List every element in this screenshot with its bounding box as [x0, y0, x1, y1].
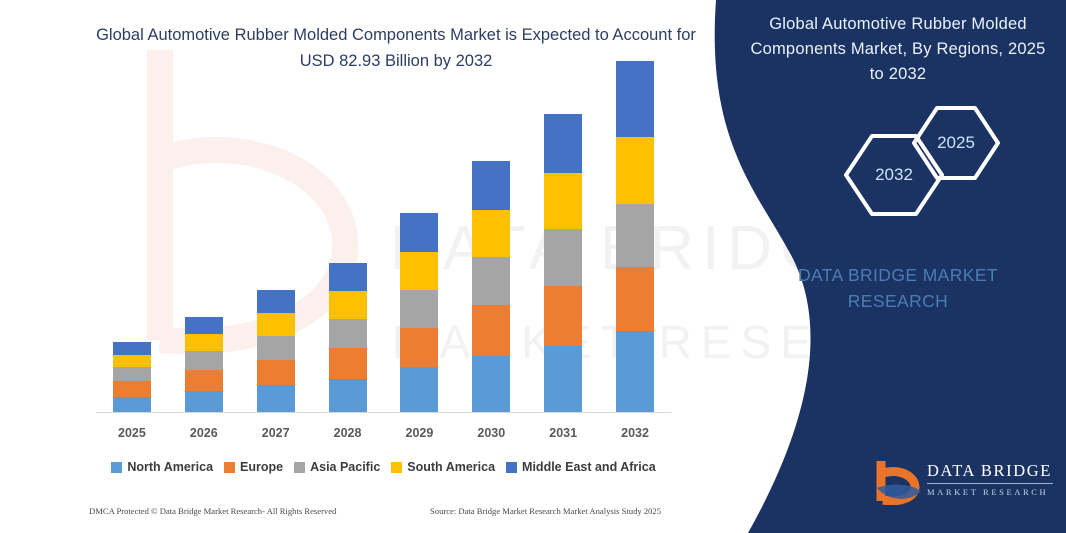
bar-2029 [400, 213, 438, 412]
x-axis-label-2028: 2028 [318, 426, 378, 440]
data-bridge-logo-icon [871, 457, 923, 505]
hexagon-badge-2032: 2032 [842, 132, 946, 218]
legend-label: South America [407, 460, 495, 474]
bar-segment-2030-asia-pacific [472, 257, 510, 305]
dbmr-logo-divider [927, 483, 1053, 484]
bar-chart-plot [96, 60, 671, 413]
bar-segment-2031-middle-east-and-africa [544, 114, 582, 173]
bar-2027 [257, 290, 295, 412]
bar-segment-2029-north-america [400, 367, 438, 412]
x-axis-label-2029: 2029 [389, 426, 449, 440]
bar-segment-2025-middle-east-and-africa [113, 342, 151, 355]
x-axis-label-2031: 2031 [533, 426, 593, 440]
chart-legend: North AmericaEuropeAsia PacificSouth Ame… [96, 458, 671, 476]
bar-segment-2029-south-america [400, 252, 438, 290]
bar-segment-2030-north-america [472, 356, 510, 412]
bar-segment-2026-south-america [185, 334, 223, 352]
x-axis-label-2032: 2032 [605, 426, 665, 440]
legend-swatch-icon [111, 462, 122, 473]
x-axis-label-2030: 2030 [461, 426, 521, 440]
legend-label: Middle East and Africa [522, 460, 656, 474]
bar-segment-2026-middle-east-and-africa [185, 317, 223, 334]
legend-swatch-icon [294, 462, 305, 473]
infographic-root: DATA BRIDGE MARKET RESEARCH Global Autom… [0, 0, 1066, 533]
bar-segment-2027-asia-pacific [257, 336, 295, 360]
x-axis-label-2026: 2026 [174, 426, 234, 440]
bar-segment-2027-south-america [257, 313, 295, 336]
bar-segment-2028-asia-pacific [329, 319, 367, 348]
bar-segment-2027-europe [257, 360, 295, 385]
bar-segment-2028-middle-east-and-africa [329, 263, 367, 291]
legend-item-north-america[interactable]: North America [111, 460, 213, 474]
bar-2032 [616, 61, 654, 412]
x-axis-label-2025: 2025 [102, 426, 162, 440]
bar-segment-2027-north-america [257, 385, 295, 412]
footer-source: Source: Data Bridge Market Research Mark… [430, 506, 661, 516]
bar-2026 [185, 317, 223, 412]
bar-segment-2025-europe [113, 381, 151, 396]
bar-segment-2031-europe [544, 286, 582, 346]
hexagon-badges: 2025 2032 [748, 100, 1048, 215]
bar-segment-2026-north-america [185, 391, 223, 412]
bar-segment-2032-europe [616, 267, 654, 331]
footer: DMCA Protected © Data Bridge Market Rese… [0, 506, 700, 526]
bar-2030 [472, 161, 510, 412]
legend-item-europe[interactable]: Europe [224, 460, 283, 474]
x-axis-line [96, 412, 671, 413]
bar-segment-2032-south-america [616, 137, 654, 204]
footer-copyright: DMCA Protected © Data Bridge Market Rese… [89, 506, 336, 516]
bar-segment-2025-north-america [113, 397, 151, 412]
bar-2025 [113, 342, 151, 412]
bar-2031 [544, 114, 582, 412]
bar-segment-2031-north-america [544, 346, 582, 412]
x-axis-labels: 20252026202720282029203020312032 [96, 426, 671, 446]
legend-swatch-icon [224, 462, 235, 473]
bar-segment-2025-south-america [113, 355, 151, 368]
dbmr-logo-line-2: MARKET RESEARCH [927, 487, 1057, 497]
dbmr-logo: DATA BRIDGE MARKET RESEARCH [871, 455, 1057, 507]
x-axis-label-2027: 2027 [246, 426, 306, 440]
bar-segment-2032-north-america [616, 331, 654, 412]
legend-label: North America [127, 460, 213, 474]
bar-segment-2025-asia-pacific [113, 367, 151, 381]
bar-segment-2030-middle-east-and-africa [472, 161, 510, 209]
legend-item-middle-east-and-africa[interactable]: Middle East and Africa [506, 460, 656, 474]
legend-label: Europe [240, 460, 283, 474]
bar-segment-2029-middle-east-and-africa [400, 213, 438, 251]
dbmr-logo-line-1: DATA BRIDGE [927, 461, 1057, 481]
legend-item-south-america[interactable]: South America [391, 460, 495, 474]
legend-label: Asia Pacific [310, 460, 380, 474]
bar-segment-2031-south-america [544, 173, 582, 229]
hexagon-badge-2032-label: 2032 [842, 132, 946, 218]
bar-segment-2028-south-america [329, 291, 367, 319]
bar-segment-2029-europe [400, 328, 438, 367]
bar-segment-2030-europe [472, 305, 510, 356]
bar-segment-2030-south-america [472, 210, 510, 257]
bar-segment-2029-asia-pacific [400, 290, 438, 328]
bar-segment-2026-asia-pacific [185, 351, 223, 370]
right-panel-brand: DATA BRIDGE MARKET RESEARCH [748, 262, 1048, 314]
bar-segment-2032-asia-pacific [616, 204, 654, 266]
bar-segment-2028-north-america [329, 379, 367, 412]
legend-swatch-icon [506, 462, 517, 473]
bar-segment-2028-europe [329, 348, 367, 379]
legend-item-asia-pacific[interactable]: Asia Pacific [294, 460, 380, 474]
bar-segment-2031-asia-pacific [544, 229, 582, 286]
bar-segment-2027-middle-east-and-africa [257, 290, 295, 313]
legend-swatch-icon [391, 462, 402, 473]
bar-segment-2026-europe [185, 370, 223, 390]
right-panel: Global Automotive Rubber Molded Componen… [686, 0, 1066, 533]
bar-2028 [329, 263, 367, 412]
bar-segment-2032-middle-east-and-africa [616, 61, 654, 137]
right-panel-title: Global Automotive Rubber Molded Componen… [748, 12, 1048, 87]
